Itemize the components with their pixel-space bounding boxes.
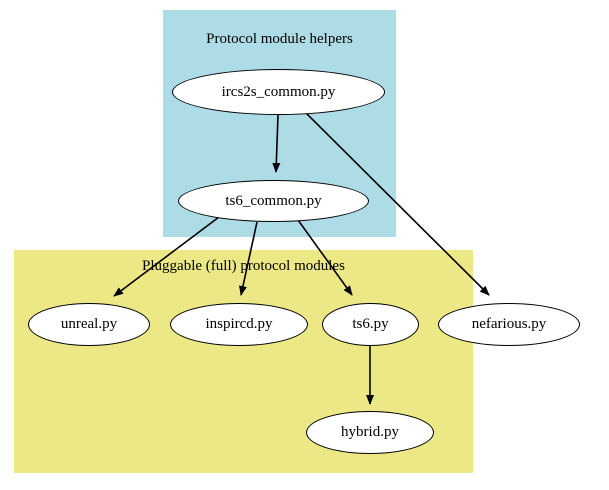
node-ircs2s-common[interactable]: ircs2s_common.py <box>172 69 385 115</box>
node-label-ts6: ts6.py <box>352 317 388 332</box>
node-inspircd[interactable]: inspircd.py <box>170 303 308 346</box>
node-label-ts6-common: ts6_common.py <box>225 194 321 209</box>
node-nefarious[interactable]: nefarious.py <box>438 303 580 346</box>
node-label-ircs2s-common: ircs2s_common.py <box>222 85 336 100</box>
node-ts6-common[interactable]: ts6_common.py <box>178 180 369 222</box>
diagram-canvas: Protocol module helpers Pluggable (full)… <box>0 0 609 490</box>
node-hybrid[interactable]: hybrid.py <box>306 411 434 454</box>
node-label-inspircd: inspircd.py <box>205 317 272 332</box>
node-ts6[interactable]: ts6.py <box>322 303 419 346</box>
node-label-unreal: unreal.py <box>61 317 117 332</box>
node-label-hybrid: hybrid.py <box>341 425 399 440</box>
node-unreal[interactable]: unreal.py <box>28 303 150 346</box>
cluster-label-pluggable: Pluggable (full) protocol modules <box>14 258 473 275</box>
node-label-nefarious: nefarious.py <box>472 317 547 332</box>
cluster-label-helpers: Protocol module helpers <box>163 31 396 48</box>
